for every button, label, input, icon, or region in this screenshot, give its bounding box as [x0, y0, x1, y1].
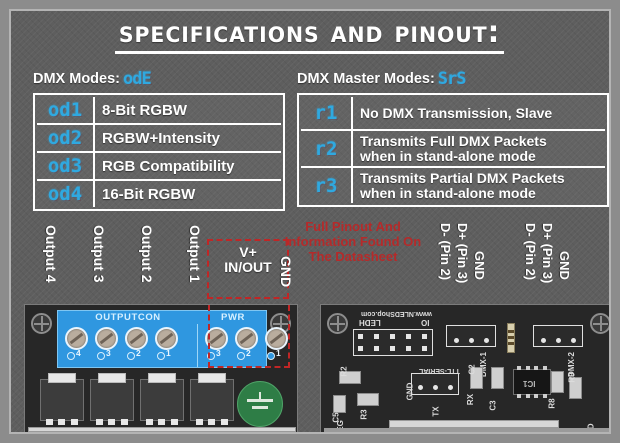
pcb-photo-left: OUTPUTCON PWR 4 3 2 1 [24, 304, 298, 434]
mosfet-legs [43, 419, 81, 425]
master-desc-line1: Transmits Partial DMX Packets [360, 171, 565, 185]
pin-label-dmx2-dminus: D- (Pin 2) [523, 223, 538, 280]
mosfet-tab [148, 373, 176, 383]
pin-label-output-4: Output 4 [43, 225, 59, 283]
cap-bar [247, 399, 273, 402]
dmx-master-modes-heading: DMX Master Modes:SrS [297, 69, 466, 89]
mode-code-cell: od2 [37, 125, 95, 151]
pcb-photo-right: LEDH IO www.NLEDShop.com DMX-1 DMX-2 [320, 304, 611, 434]
terminal-number: 2 [136, 348, 141, 358]
mode-desc: 16-Bit RGBW [95, 181, 281, 207]
dmx-modes-heading-code: odE [123, 69, 151, 89]
table-row: r3 Transmits Partial DMX Packets when in… [301, 168, 605, 203]
dmx-master-modes-table: r1 No DMX Transmission, Slave r2 Transmi… [297, 93, 609, 207]
terminal-hole [67, 352, 75, 360]
silk-label-rx: RX [466, 394, 475, 405]
datasheet-note-line3: The Datasheet [263, 250, 443, 265]
page-title-container: Specifications and Pinout: [11, 17, 609, 54]
terminal-block-divider [197, 324, 198, 367]
master-code: r3 [315, 175, 338, 197]
terminal-screw[interactable] [155, 327, 178, 350]
terminal-screw[interactable] [65, 327, 88, 350]
silk-label-r8: R8 [548, 398, 557, 408]
master-code: r2 [315, 138, 338, 160]
silk-label-r9: R9 [568, 372, 577, 382]
terminal-hole [97, 352, 105, 360]
master-desc-line2: when in stand-alone mode [360, 186, 565, 200]
master-desc: Transmits Full DMX Packets when in stand… [353, 131, 605, 166]
master-desc-line1: No DMX Transmission, Slave [360, 106, 552, 120]
mosfet-tab [198, 373, 226, 383]
pin-label-output-1: Output 1 [187, 225, 203, 283]
datasheet-note-line1: Full Pinout And [263, 220, 443, 235]
master-code-cell: r3 [301, 168, 353, 203]
pin-label-output-2: Output 2 [139, 225, 155, 283]
ttl-serial-connector [411, 373, 459, 395]
dmx-modes-table: od1 8-Bit RGBW od2 RGBW+Intensity od3 RG… [33, 93, 285, 211]
mosfet-legs [93, 419, 131, 425]
power-highlight-box-pcb [208, 305, 290, 368]
silk-label-r3: R3 [360, 409, 369, 419]
capacitor-c3 [491, 367, 504, 389]
terminal-number: 3 [106, 348, 111, 358]
dmx-modes-heading: DMX Modes:odE [33, 69, 151, 89]
dmx-modes-heading-label: DMX Modes: [33, 71, 120, 87]
mosfet-tab [98, 373, 126, 383]
mode-code-cell: od4 [37, 181, 95, 207]
table-row: od4 16-Bit RGBW [37, 181, 281, 207]
master-desc: No DMX Transmission, Slave [353, 97, 605, 129]
mounting-screw-icon [590, 313, 611, 334]
table-row: od2 RGBW+Intensity [37, 125, 281, 153]
mosfet-component [190, 379, 234, 421]
pin-label-output-3: Output 3 [91, 225, 107, 283]
silk-label-ttl-serial: TTL-SERIAL [419, 367, 460, 374]
dmx-master-modes-heading-code: SrS [438, 69, 466, 89]
pcb-right-edge-connector [389, 420, 559, 428]
table-row: r1 No DMX Transmission, Slave [301, 97, 605, 131]
pin-label-dmx2-dplus: D+ (Pin 3) [540, 223, 555, 283]
resistor-r8 [551, 371, 564, 393]
master-desc-line1: Transmits Full DMX Packets [360, 134, 547, 148]
led-header-connector [353, 329, 433, 356]
mounting-screw-icon [31, 313, 52, 334]
master-desc-line2: when in stand-alone mode [360, 149, 547, 163]
terminal-screw[interactable] [95, 327, 118, 350]
table-row: r2 Transmits Full DMX Packets when in st… [301, 131, 605, 168]
page-title: Specifications and Pinout: [115, 17, 504, 54]
pcb-right-edge [324, 428, 611, 432]
mode-code: od4 [48, 183, 82, 205]
silk-label-c2: C2 [468, 364, 477, 374]
silk-label-r2: R2 [340, 366, 349, 376]
silk-label-gnd: GND [405, 383, 414, 401]
terminal-hole [157, 352, 165, 360]
mosfet-legs [143, 419, 181, 425]
mosfet-component [90, 379, 134, 421]
mode-code-cell: od1 [37, 97, 95, 123]
pin-label-dmx1-dplus: D+ (Pin 3) [455, 223, 470, 283]
master-code-cell: r1 [301, 97, 353, 129]
mode-code: od1 [48, 99, 82, 121]
capacitor-c5 [333, 395, 346, 413]
terminal-number: 4 [76, 348, 81, 358]
dmx2-connector [533, 325, 583, 347]
mounting-screw-icon [327, 313, 348, 334]
silk-label-c3: C3 [489, 400, 498, 410]
master-code-cell: r2 [301, 131, 353, 166]
silk-label-tx: TX [432, 406, 441, 416]
mosfet-legs [193, 419, 231, 425]
terminal-hole [127, 352, 135, 360]
mosfet-component [40, 379, 84, 421]
terminal-block-outputcon-label: OUTPUTCON [58, 312, 198, 323]
master-desc: Transmits Partial DMX Packets when in st… [353, 168, 605, 203]
infographic-frame: Specifications and Pinout: DMX Modes:odE… [9, 9, 611, 434]
silk-label-website: www.NLEDShop.com [361, 310, 432, 317]
mode-desc: RGBW+Intensity [95, 125, 281, 151]
table-row: od3 RGB Compatibility [37, 153, 281, 181]
pin-label-dmx1-dminus: D- (Pin 2) [438, 223, 453, 280]
cap-bar2 [252, 406, 268, 409]
resistor-r3 [357, 393, 379, 406]
axial-resistor [507, 323, 515, 353]
silk-label-ic1: IC1 [523, 379, 535, 388]
dmx-master-modes-heading-label: DMX Master Modes: [297, 71, 435, 87]
pin-label-dmx1-gnd: GND [472, 251, 487, 280]
pin-label-dmx2-gnd: GND [557, 251, 572, 280]
pcb-left-edge [28, 427, 296, 432]
mosfet-tab [48, 373, 76, 383]
master-code: r1 [315, 102, 338, 124]
silk-label-ledh: LEDH [359, 318, 381, 327]
datasheet-note-line2: Information Found On [263, 235, 443, 250]
mode-code: od2 [48, 127, 82, 149]
mode-code-cell: od3 [37, 153, 95, 179]
dmx1-connector [446, 325, 496, 347]
electrolytic-capacitor [237, 381, 283, 427]
datasheet-note: Full Pinout And Information Found On The… [263, 220, 443, 265]
specifications-pinout-infographic: Specifications and Pinout: DMX Modes:odE… [0, 0, 620, 443]
mode-desc: 8-Bit RGBW [95, 97, 281, 123]
silk-label-io: IO [421, 318, 429, 327]
mode-desc: RGB Compatibility [95, 153, 281, 179]
terminal-screw[interactable] [125, 327, 148, 350]
mosfet-component [140, 379, 184, 421]
table-row: od1 8-Bit RGBW [37, 97, 281, 125]
terminal-number: 1 [166, 348, 171, 358]
mode-code: od3 [48, 155, 82, 177]
